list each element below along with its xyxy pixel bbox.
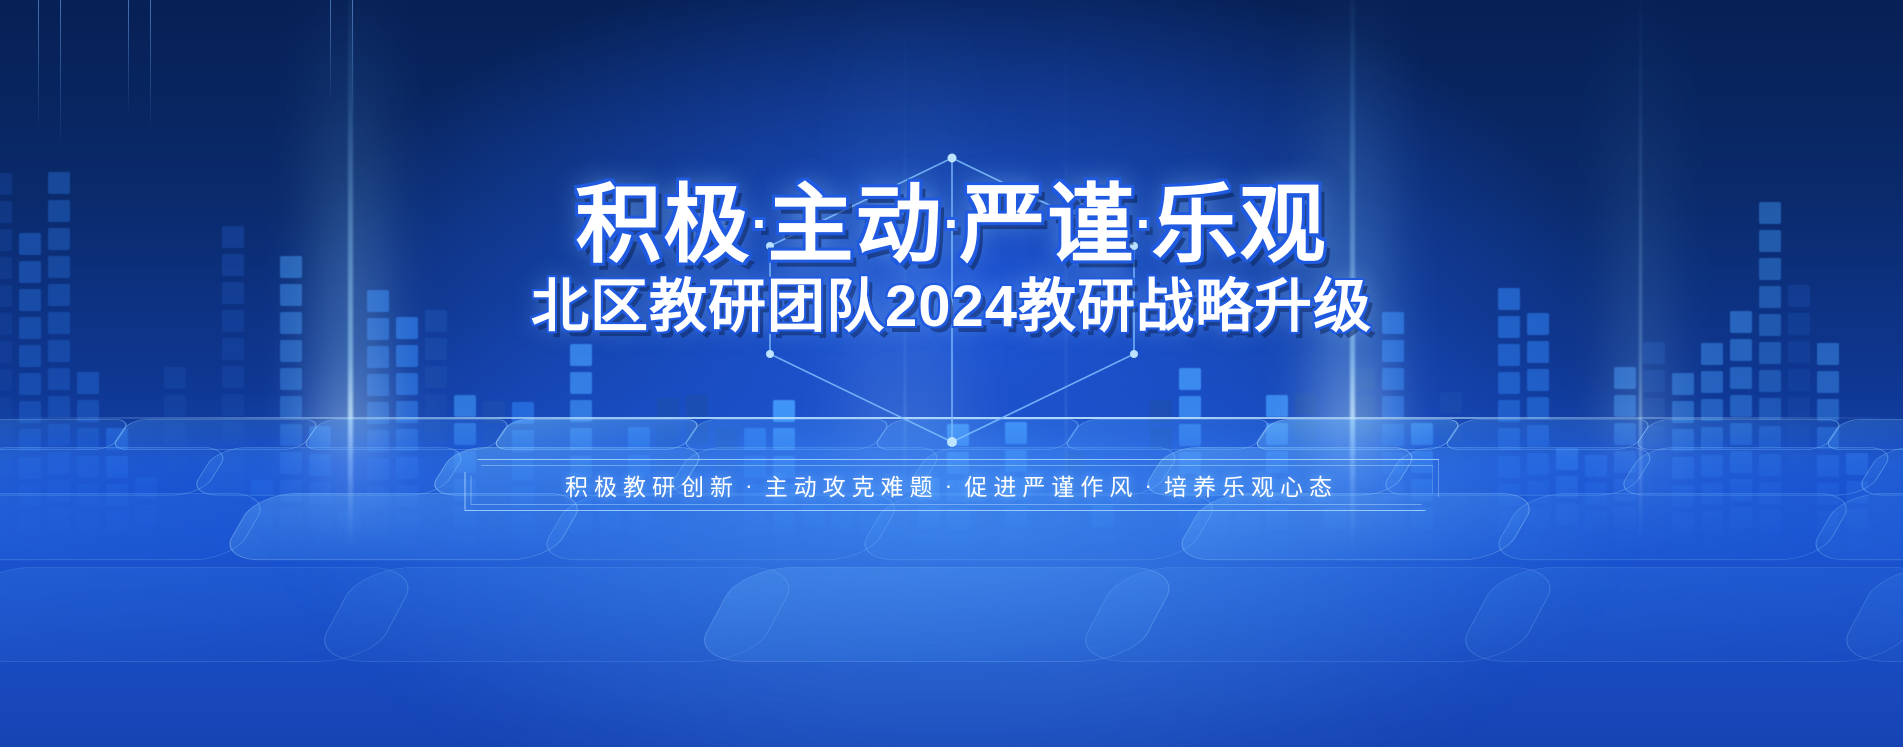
tagline-frame: 积极教研创新 · 主动攻克难题 · 促进严谨作风 · 培养乐观心态 [464,459,1439,511]
main-title-part-1: 积极 [576,177,752,273]
hairline [150,0,151,132]
skyline-column [1556,448,1578,554]
skyline-column [570,344,592,560]
floor-tile [1632,419,1845,450]
skyline-column [1440,392,1462,554]
skyline-column [1846,453,1868,559]
skyline-column [425,310,447,556]
floor-tile [110,419,323,450]
skyline-column [164,367,186,557]
skyline-column [222,226,244,556]
skyline-column [106,428,128,560]
floor-tile [490,419,703,450]
title-separator-3: · [1135,198,1151,251]
floor-tile [1822,419,1903,450]
floor-tile [300,419,513,450]
skyline-column [831,511,853,560]
floor-tile [310,567,802,662]
skyline-column [1614,367,1636,557]
skyline-column [309,426,331,560]
tagline-item-3: 促进严谨作风 [964,468,1138,502]
skyline-column [889,509,911,559]
skyline-column [976,508,998,558]
tagline-item-4: 培养乐观心态 [1164,468,1338,502]
hairline [128,0,129,118]
floor-tile [1804,493,1903,560]
floor-tile [1833,567,1903,662]
skyline-column [1237,513,1259,560]
tagline-separator-1: · [739,472,765,499]
floor-tile [1615,447,1897,495]
floor-tile [871,419,1084,450]
main-title: 积极·主动·严谨·乐观 [0,182,1903,268]
skyline-column [193,451,215,557]
hairline [330,0,331,104]
floor-tile [1853,447,1903,495]
skyline-column [1382,312,1404,558]
hairline [352,0,353,118]
skyline-column [1585,455,1607,560]
floor-tile [1251,419,1464,450]
tagline-separator-3: · [1138,472,1164,499]
skyline-column [1875,477,1897,555]
main-title-part-3: 严谨 [959,177,1135,273]
floor-tile [0,493,272,560]
skyline-column [1643,342,1665,560]
subtitle: 北区教研团队2024教研战略升级 [0,278,1903,336]
floor-tile [680,419,893,450]
tagline-item-2: 主动攻克难题 [765,468,939,502]
floor-tile [1487,493,1858,560]
skyline-column [1730,311,1752,557]
skyline-column [1701,343,1723,560]
main-title-part-2: 主动 [768,177,944,273]
tagline-separator-2: · [939,472,965,499]
skyline-column [1672,373,1694,560]
skyline-column [1469,484,1491,560]
title-separator-1: · [752,198,768,251]
floor-tile [1442,419,1655,450]
floor-tile [0,447,232,495]
tagline-item-1: 积极教研创新 [565,468,739,502]
hairline [60,0,61,146]
floor-tile [691,567,1183,662]
skyline-column [251,480,273,558]
floor-tile [188,447,470,495]
floor-tile [1071,567,1563,662]
skyline-column [1817,343,1839,560]
skyline-column [1034,513,1056,560]
promo-banner: 积极·主动·严谨·乐观 北区教研团队2024教研战略升级 积极教研创新 · 主动… [0,0,1903,747]
skyline-column [802,505,824,555]
floor-tile [1061,419,1274,450]
floor-tile [1452,567,1903,662]
skyline-column [338,512,360,560]
skyline-column [1324,507,1346,557]
tagline: 积极教研创新 · 主动攻克难题 · 促进严谨作风 · 培养乐观心态 [464,459,1439,511]
horizon-line [0,417,1903,419]
skyline-column [396,317,418,560]
skyline-column [1527,313,1549,559]
skyline-column [135,477,157,555]
floor-tile [0,567,422,662]
title-separator-2: · [944,198,960,251]
skyline-column [77,372,99,560]
skyline-column [1092,505,1114,555]
hairline [38,0,39,132]
main-title-part-4: 乐观 [1151,177,1327,273]
floor-tile [0,419,132,450]
skyline-column [599,507,621,557]
